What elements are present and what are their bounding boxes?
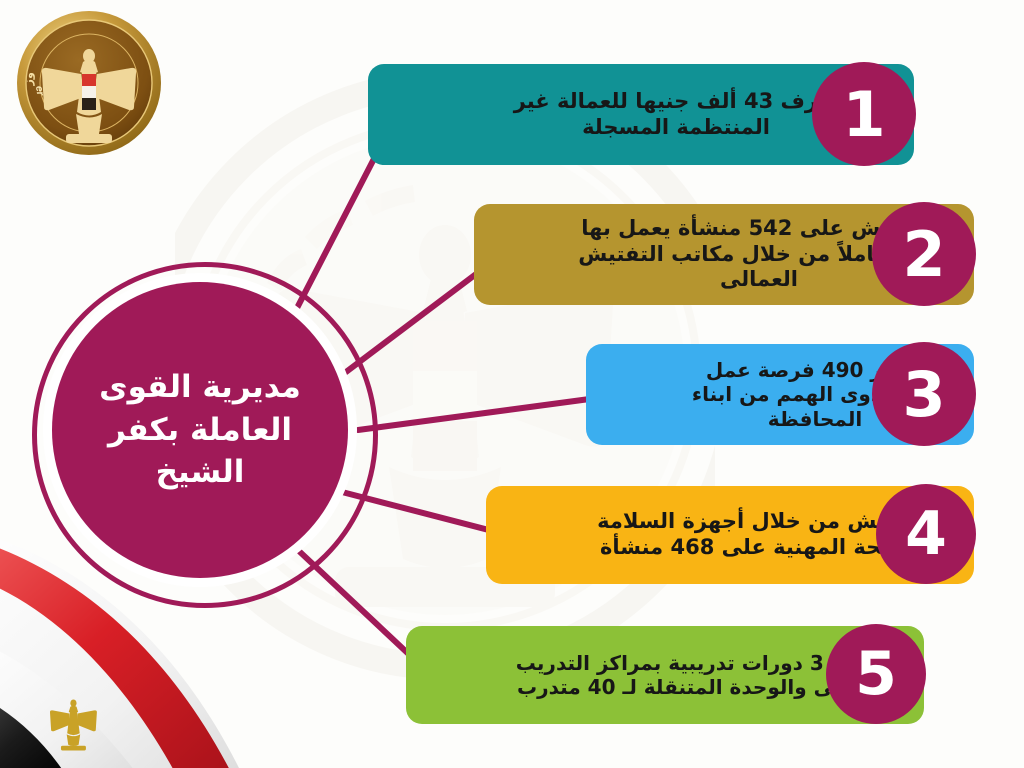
fact-number-4: 4 — [876, 484, 976, 584]
fact-row-5[interactable]: انتهاء 3 دورات تدريبية بمراكز التدريب ال… — [406, 626, 924, 724]
fact-number-5: 5 — [826, 624, 926, 724]
hub-label: مديرية القوى العاملة بكفر الشيخ — [80, 366, 320, 494]
fact-number-2: 2 — [872, 202, 976, 306]
fact-number-1: 1 — [812, 62, 916, 166]
fact-row-2[interactable]: التفتيش على 542 منشأة يعمل بها 595 عاملا… — [474, 204, 974, 305]
infographic-canvas: وزارة القوى العاملة Ministry of Manpower… — [0, 0, 1024, 768]
fact-row-4[interactable]: التفتيش من خلال أجهزة السلامة والصحة الم… — [486, 486, 974, 584]
fact-number-3: 3 — [872, 342, 976, 446]
hub-circle[interactable]: مديرية القوى العاملة بكفر الشيخ — [52, 282, 348, 578]
fact-row-1[interactable]: صرف 43 ألف جنيها للعمالة غير المنتظمة ال… — [368, 64, 914, 165]
fact-row-3[interactable]: توفير 490 فرصة عمل منها لذوى الهمم من اب… — [586, 344, 974, 445]
ministry-logo: وزارة القوى العاملة Ministry of Manpower — [14, 8, 164, 158]
